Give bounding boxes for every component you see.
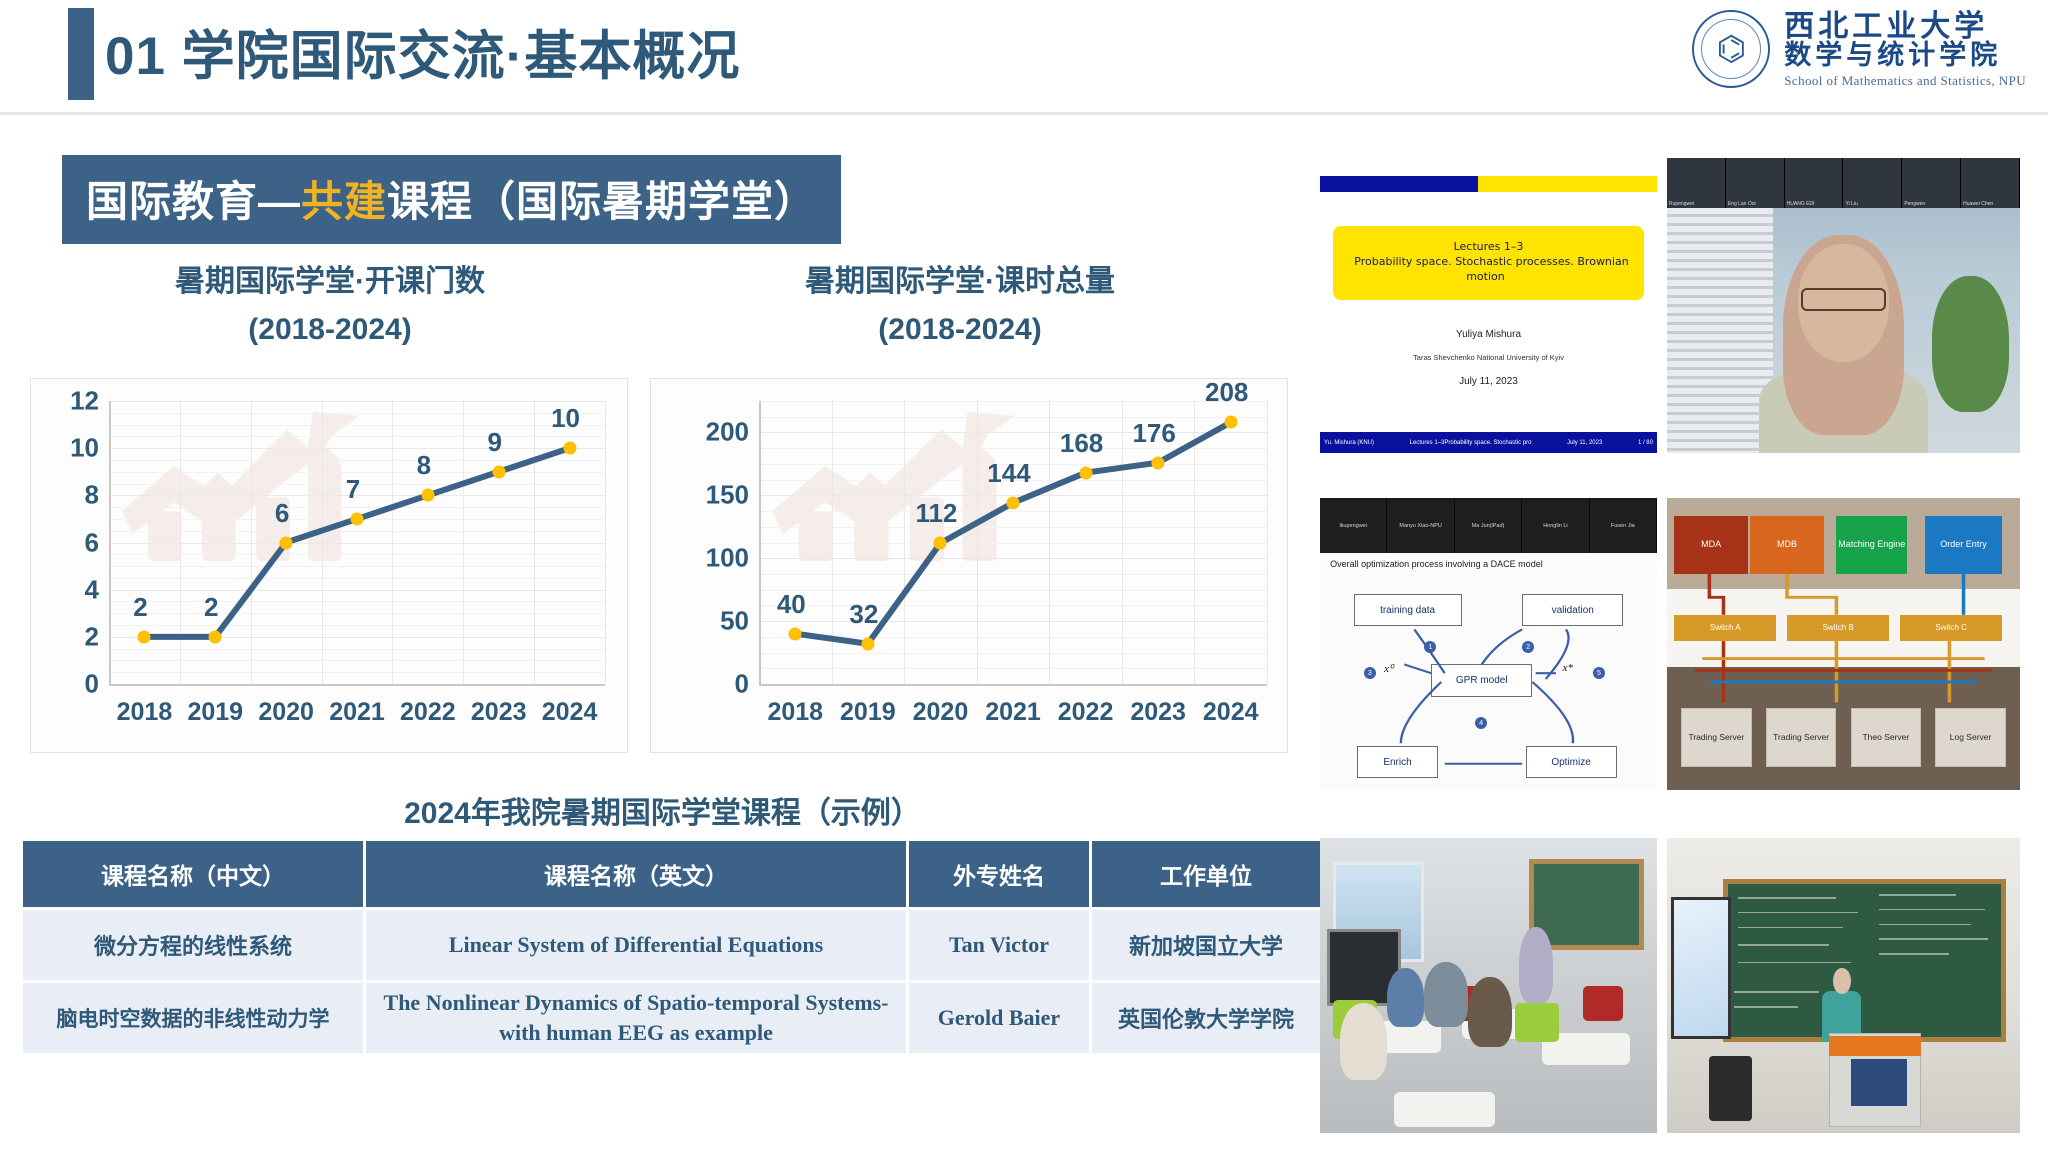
arch-box-mda: MDA [1674,516,1748,574]
dace-math-xstar: x* [1563,662,1573,674]
zoom-participant-tile[interactable]: Pengwen [1902,158,1961,208]
slide-title-line2: Probability space. Stochastic processes.… [1348,255,1628,283]
arch-box-matching-engine: Matching Engine [1836,516,1907,574]
dace-step-1: 1 [1424,641,1436,653]
chart-data-point [280,536,293,549]
arch-server-log: Log Server [1935,708,2006,766]
arch-box-mdb: MDB [1750,516,1824,574]
cell-course-cn: 微分方程的线性系统 [23,910,363,980]
chart-data-point [492,465,505,478]
photo-lecture-slide: Lectures 1–3 Probability space. Stochast… [1320,158,1657,453]
chart-1-title-main: 暑期国际学堂·开课门数 [175,265,485,298]
chart-data-label: 32 [849,599,878,630]
zoom-participant-name: Pengwen [1904,201,1925,207]
university-logo: ⌬ 西北工业大学 数学与统计学院 School of Mathematics a… [1692,10,2026,88]
dace-step-5: 5 [1593,667,1605,679]
chart-1-card: 0246810122018201920202021202220232024226… [30,378,628,753]
dace-participant-tile[interactable]: lkupengwei [1320,498,1387,553]
dace-node-enrich: Enrich [1357,746,1438,778]
chart-series-line [651,379,1287,752]
glasses-icon [1801,288,1886,312]
zoom-participant-name: Yi Liu [1845,201,1857,207]
dace-node-optimize: Optimize [1526,746,1617,778]
classroom2-projection-screen [1671,897,1731,1039]
zoom-participant-name: Rupengwei [1669,201,1694,207]
chart-2-title: 暑期国际学堂·课时总量 (2018-2024) [660,258,1260,354]
slide-title-line1: Lectures 1–3 [1448,240,1530,253]
header-accent-bar [68,8,94,100]
chart-data-label: 8 [417,450,431,481]
chart-data-label: 176 [1132,418,1175,449]
dace-participant-tile[interactable]: Manyu Xiao-NPU [1387,498,1454,553]
zoom-participant-tile[interactable]: Rupengwei [1667,158,1726,208]
slide-footer-mid: Lectures 1–3Probability space. Stochasti… [1410,440,1532,446]
slide-title-box: Lectures 1–3 Probability space. Stochast… [1333,226,1643,300]
slide-date: July 11, 2023 [1320,376,1657,387]
arch-switch-b: Switch B [1787,615,1889,641]
dace-math-x0: x⁰ [1384,662,1393,675]
slide-footer: Yu. Mishura (KNU) Lectures 1–3Probabilit… [1320,432,1657,453]
chart-2-card: 0501001502002018201920202021202220232024… [650,378,1288,753]
zoom-participant-tile[interactable]: Huawei Chen [1961,158,2020,208]
arch-switch-c: Switch C [1900,615,2002,641]
dace-step-3: 3 [1364,667,1376,679]
classroom-desk [1394,1092,1495,1127]
chart-series-line [31,379,627,752]
photo-zoom-call: RupengweiEng Lan OoiHUANG EDIYi LiuPengw… [1667,158,2020,453]
banner-accent: 共建 [301,178,387,225]
slide-footer-page: 1 / 80 [1638,440,1653,446]
arch-server-trading-2: Trading Server [1766,708,1837,766]
table-row: 微分方程的线性系统 Linear System of Differential … [23,910,1320,980]
arch-box-order-entry: Order Entry [1925,516,2003,574]
chart-data-point [209,630,222,643]
page-title: 01 学院国际交流·基本概况 [105,14,740,90]
zoom-participant-name: HUANG EDI [1787,201,1815,207]
slide-header-yellow [1478,176,1657,192]
chart-data-point [351,512,364,525]
section-banner: 国际教育—共建课程（国际暑期学堂） [62,155,841,244]
slide-header-blue [1320,176,1478,192]
photo-classroom-1 [1320,838,1657,1133]
dace-participant-tile[interactable]: Fusen Jia [1590,498,1657,553]
logo-seal-icon: ⌬ [1692,10,1770,88]
arch-switch-a: Switch A [1674,615,1776,641]
chart-data-label: 40 [777,589,806,620]
col-header-organization: 工作单位 [1092,841,1320,907]
photo-dace-diagram: lkupengweiManyu Xiao-NPUMa Jun(iPad)Hong… [1320,498,1657,790]
dace-participant-strip: lkupengweiManyu Xiao-NPUMa Jun(iPad)Hong… [1320,498,1657,553]
col-header-expert-name: 外专姓名 [909,841,1089,907]
slide-root: 01 学院国际交流·基本概况 ⌬ 西北工业大学 数学与统计学院 School o… [0,0,2048,1152]
dace-node-gpr-model: GPR model [1431,664,1532,696]
cell-expert-name: Gerold Baier [909,983,1089,1053]
logo-school-name-en: School of Mathematics and Statistics, NP… [1784,74,2026,88]
dace-step-4: 4 [1475,717,1487,729]
chart-data-point [861,637,874,650]
classroom-chair [1515,1003,1559,1041]
classroom-instructor [1519,927,1553,1004]
classroom-student [1340,1003,1387,1080]
slide-footer-right: July 11, 2023 [1567,440,1602,446]
logo-university-name: 西北工业大学 [1784,11,2026,43]
classroom2-lectern-banner [1829,1036,1921,1057]
photo-classroom-2 [1667,838,2020,1133]
chart-data-point [563,442,576,455]
chart-data-point [789,627,802,640]
chart-data-point [421,489,434,502]
chart-data-point [1007,496,1020,509]
chart-data-point [1224,416,1237,429]
dace-participant-tile[interactable]: Ma Jun(iPad) [1455,498,1522,553]
logo-seal-mark: ⌬ [1716,32,1746,66]
arch-server-trading-1: Trading Server [1681,708,1752,766]
dace-caption: Overall optimization process involving a… [1330,559,1543,569]
zoom-participant-tile[interactable]: Yi Liu [1843,158,1902,208]
chart-data-label: 2 [133,592,147,623]
cell-course-en: Linear System of Differential Equations [366,910,906,980]
slide-affiliation: Taras Shevchenko National University of … [1320,353,1657,362]
cell-course-en: The Nonlinear Dynamics of Spatio-tempora… [366,983,906,1053]
chart-data-label: 168 [1060,428,1103,459]
zoom-participant-tile[interactable]: HUANG EDI [1785,158,1844,208]
zoom-background-tree [1932,276,2010,412]
table-row: 脑电时空数据的非线性动力学 The Nonlinear Dynamics of … [23,983,1320,1053]
classroom2-professor-head [1833,968,1851,995]
slide-footer-left: Yu. Mishura (KNU) [1324,440,1374,446]
chart-data-label: 10 [551,403,580,434]
cell-organization: 英国伦敦大学学院 [1092,983,1320,1053]
cell-expert-name: Tan Victor [909,910,1089,980]
header-divider [0,112,2048,115]
cell-course-cn: 脑电时空数据的非线性动力学 [23,983,363,1053]
chart-data-label: 9 [487,427,501,458]
chart-data-label: 112 [915,498,957,529]
dace-participant-tile[interactable]: Honglin Li [1522,498,1589,553]
classroom-student [1468,977,1512,1048]
chart-data-label: 144 [987,458,1030,489]
chart-data-point [934,537,947,550]
classroom-chair [1583,986,1623,1021]
dace-node-validation: validation [1522,594,1623,626]
classroom2-blackboard [1723,879,2005,1041]
chart-data-point [1079,466,1092,479]
zoom-participant-strip: RupengweiEng Lan OoiHUANG EDIYi LiuPengw… [1667,158,2020,208]
slide-author: Yuliya Mishura [1320,329,1657,340]
chart-data-label: 2 [204,592,218,623]
photo-trading-architecture: MDA MDB Matching Engine Order Entry Swit… [1667,498,2020,790]
zoom-background-building [1667,208,1773,453]
courses-table: 课程名称（中文） 课程名称（英文） 外专姓名 工作单位 微分方程的线性系统 Li… [20,838,1323,1056]
zoom-participant-name: Eng Lan Ooi [1728,201,1756,207]
chart-data-point [1152,456,1165,469]
chart-data-point [138,630,151,643]
col-header-course-cn: 课程名称（中文） [23,841,363,907]
col-header-course-en: 课程名称（英文） [366,841,906,907]
arch-server-theo: Theo Server [1851,708,1922,766]
cell-organization: 新加坡国立大学 [1092,910,1320,980]
chart-data-label: 6 [275,498,289,529]
chart-data-label: 208 [1205,377,1248,408]
chart-data-label: 7 [346,474,360,505]
zoom-participant-name: Huawei Chen [1963,201,1993,207]
classroom2-lectern-logo-panel [1851,1059,1907,1106]
chart-2-title-sub: (2018-2024) [660,306,1260,354]
banner-prefix: 国际教育— [86,178,301,225]
classroom2-chair [1709,1056,1751,1121]
dace-step-2: 2 [1522,641,1534,653]
dace-node-training-data: training data [1354,594,1462,626]
classroom-student [1424,962,1468,1027]
logo-school-name: 数学与统计学院 [1784,42,2026,70]
chart-1-title-sub: (2018-2024) [30,306,630,354]
chart-2-title-main: 暑期国际学堂·课时总量 [805,265,1115,298]
zoom-participant-tile[interactable]: Eng Lan Ooi [1726,158,1785,208]
table-title: 2024年我院暑期国际学堂课程（示例） [20,788,1305,832]
table-header-row: 课程名称（中文） 课程名称（英文） 外专姓名 工作单位 [23,841,1320,907]
chart-1-title: 暑期国际学堂·开课门数 (2018-2024) [30,258,630,354]
classroom-student [1387,968,1424,1027]
banner-suffix: 课程（国际暑期学堂） [387,178,817,225]
